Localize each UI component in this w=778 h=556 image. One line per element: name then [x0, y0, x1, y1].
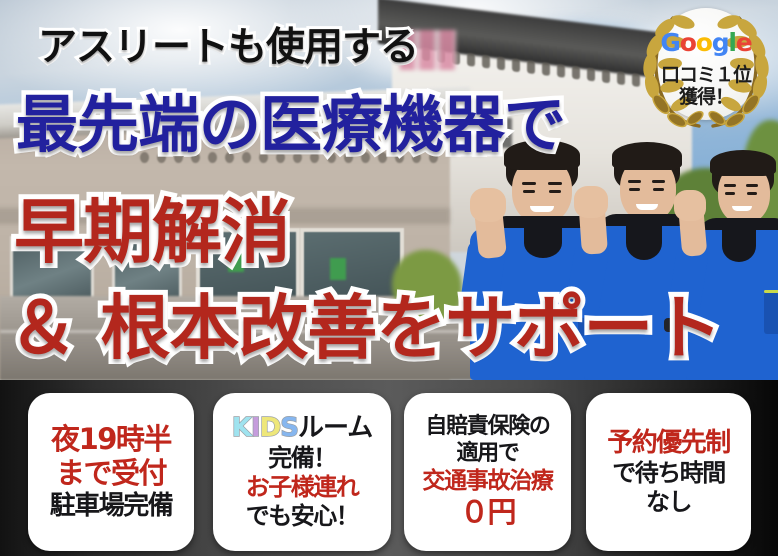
google-logo-letter-3: g [712, 28, 729, 57]
feature-bar: 夜19時半まで受付駐車場完備 KIDSルーム完備！お子様連れでも安心！ 自賠責保… [0, 380, 778, 556]
kids-logo-letter-0: K [232, 413, 251, 443]
feature-card-line-0: 夜19時半 [51, 423, 171, 455]
google-logo-letter-4: l [728, 28, 735, 57]
google-logo: Google [637, 28, 775, 57]
feature-card-line-3: ０円 [460, 496, 515, 528]
feature-card-line-2: なし [646, 489, 691, 516]
headline-line-1: アスリートも使用する [38, 16, 418, 72]
feature-card-line-0: 完備！ [268, 445, 336, 472]
feature-card-line-2: でも安心！ [246, 503, 359, 530]
feature-card-line-0: 自賠責保険の [425, 415, 549, 440]
feature-card-line-1: お子様連れ [246, 474, 359, 501]
headline-line-2: 最先端の医療機器で [16, 74, 565, 164]
kids-logo-letter-3: S [280, 413, 298, 443]
google-logo-letter-5: e [736, 28, 752, 57]
feature-card-line-1: で待ち時間 [612, 460, 725, 487]
feature-card-line-0: 予約優先制 [607, 429, 730, 458]
feature-card-reception-hours[interactable]: 夜19時半まで受付駐車場完備 [28, 393, 194, 551]
feature-card-traffic-accident[interactable]: 自賠責保険の適用で交通事故治療０円 [404, 393, 571, 551]
headline-line-3: 早期解消 [14, 176, 290, 277]
google-review-badge: Google 口コミ１位 獲得！ [637, 2, 775, 130]
feature-card-line-1: まで受付 [56, 457, 166, 489]
promotional-banner: アスリートも使用する 最先端の医療機器で 早期解消 ＆ 根本改善をサポート [0, 0, 778, 556]
feature-card-kids-room[interactable]: KIDSルーム完備！お子様連れでも安心！ [213, 393, 391, 551]
feature-card-line-1: 適用で [456, 442, 518, 467]
feature-card-line-2: 交通事故治療 [422, 469, 552, 495]
google-logo-letter-2: o [696, 28, 712, 57]
kids-logo-letter-1: I [251, 413, 260, 443]
headline-line-4: ＆ 根本改善をサポート [8, 272, 721, 373]
kids-logo-suffix: ルーム [298, 413, 372, 443]
google-logo-letter-0: G [660, 28, 679, 57]
badge-line-2: 獲得！ [637, 82, 775, 109]
kids-logo: KIDSルーム [232, 414, 372, 443]
feature-card-reservation-priority[interactable]: 予約優先制で待ち時間なし [586, 393, 751, 551]
kids-logo-letter-2: D [260, 413, 281, 443]
google-logo-letter-1: o [680, 28, 696, 57]
feature-card-line-2: 駐車場完備 [50, 492, 173, 521]
